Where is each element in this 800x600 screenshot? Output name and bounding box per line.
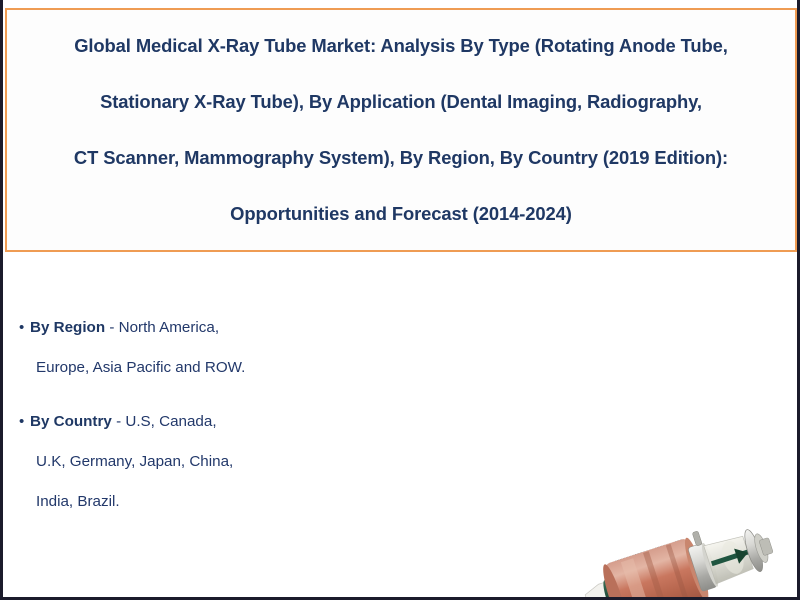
segment-country-line-3: India, Brazil.: [19, 482, 369, 522]
segment-country-value-3: India, Brazil.: [36, 493, 120, 510]
segment-region-line-2: Europe, Asia Pacific and ROW.: [19, 348, 369, 388]
report-cover-poster: Global Medical X-Ray Tube Market: Analys…: [0, 0, 800, 600]
title-line-1: Global Medical X-Ray Tube Market: Analys…: [21, 18, 781, 74]
title-panel: Global Medical X-Ray Tube Market: Analys…: [5, 8, 797, 252]
segmentation-list: •By Region - North America, Europe, Asia…: [19, 308, 369, 536]
segment-region-line-1: •By Region - North America,: [19, 308, 369, 348]
body-region: •By Region - North America, Europe, Asia…: [3, 256, 797, 597]
title-line-2: Stationary X-Ray Tube), By Application (…: [21, 74, 781, 130]
segment-country-key: By Country: [30, 413, 112, 430]
segment-region-value-2: Europe, Asia Pacific and ROW.: [36, 359, 245, 376]
list-item: •By Country - U.S, Canada, U.K, Germany,…: [19, 402, 369, 522]
title-line-4: Opportunities and Forecast (2014-2024): [21, 186, 781, 242]
segment-country-value-1: - U.S, Canada,: [112, 413, 217, 430]
segment-region-key: By Region: [30, 319, 105, 336]
segment-country-value-2: U.K, Germany, Japan, China,: [36, 453, 233, 470]
segment-country-line-1: •By Country - U.S, Canada,: [19, 402, 369, 442]
bullet-dot-icon: •: [19, 402, 30, 442]
segment-country-line-2: U.K, Germany, Japan, China,: [19, 442, 369, 482]
rotating-anode-tube-image: [501, 524, 800, 600]
title-line-3: CT Scanner, Mammography System), By Regi…: [21, 130, 781, 186]
page-title: Global Medical X-Ray Tube Market: Analys…: [21, 18, 781, 242]
segment-region-value-1: - North America,: [105, 319, 219, 336]
list-item: •By Region - North America, Europe, Asia…: [19, 308, 369, 388]
bullet-dot-icon: •: [19, 308, 30, 348]
